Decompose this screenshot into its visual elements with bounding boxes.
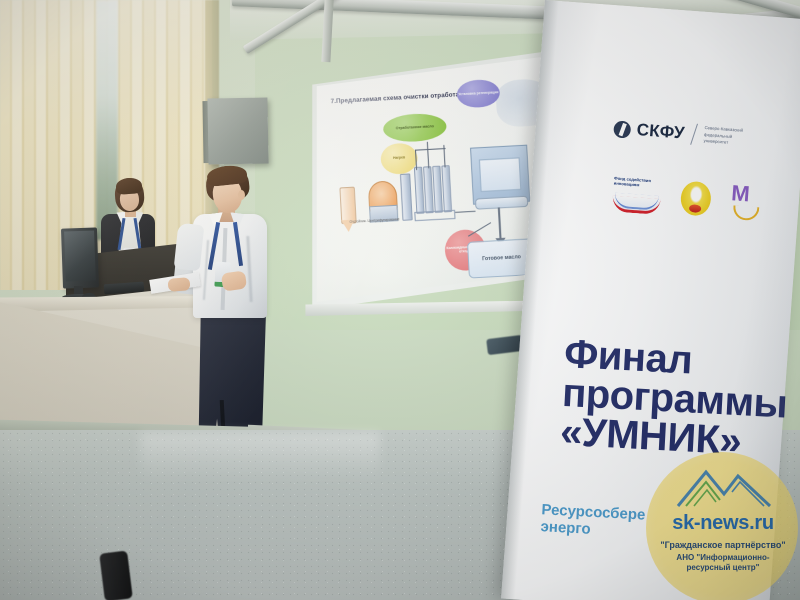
wall-cabinet	[207, 97, 268, 164]
slide-connector-2	[427, 142, 429, 169]
monitor	[61, 227, 99, 288]
slide-connector-5	[455, 211, 475, 214]
monitor-screen	[64, 230, 96, 281]
presenter-man-ear	[238, 190, 245, 200]
watermark-org-type: АНО "Информационно- ресурсный центр"	[648, 553, 798, 572]
slide-connector-4	[415, 148, 446, 151]
slide-node-yellow: Нагрев	[380, 142, 418, 175]
floor-reflection	[140, 432, 380, 482]
watermark-org-name: "Гражданское партнёрство"	[648, 540, 798, 550]
presenter-man-sleeve-left	[174, 223, 205, 271]
floor-object	[99, 550, 133, 600]
slide-eq-vessel-inner	[479, 157, 522, 192]
slide-caption: Отстойник. Центрифугирование	[349, 217, 399, 224]
slide-node-purple: Установка регенерации	[456, 79, 500, 109]
presenter-man-left-hand	[168, 277, 191, 292]
slide-node-green: Отработанное масло	[383, 112, 448, 143]
watermark-url: sk-news.ru	[652, 512, 794, 535]
slide-connector-6	[498, 207, 501, 240]
slide-eq-manifold	[414, 210, 455, 221]
slide-eq-outlet	[475, 196, 529, 210]
slide-eq-filter	[400, 173, 413, 220]
photo-scene: 7.Предлагаемая схема очистки отработанно…	[0, 0, 800, 600]
presenter-woman-hair-front	[115, 177, 142, 195]
slide-eq-col-4	[441, 165, 452, 212]
watermark-mountain-icon	[676, 462, 772, 508]
